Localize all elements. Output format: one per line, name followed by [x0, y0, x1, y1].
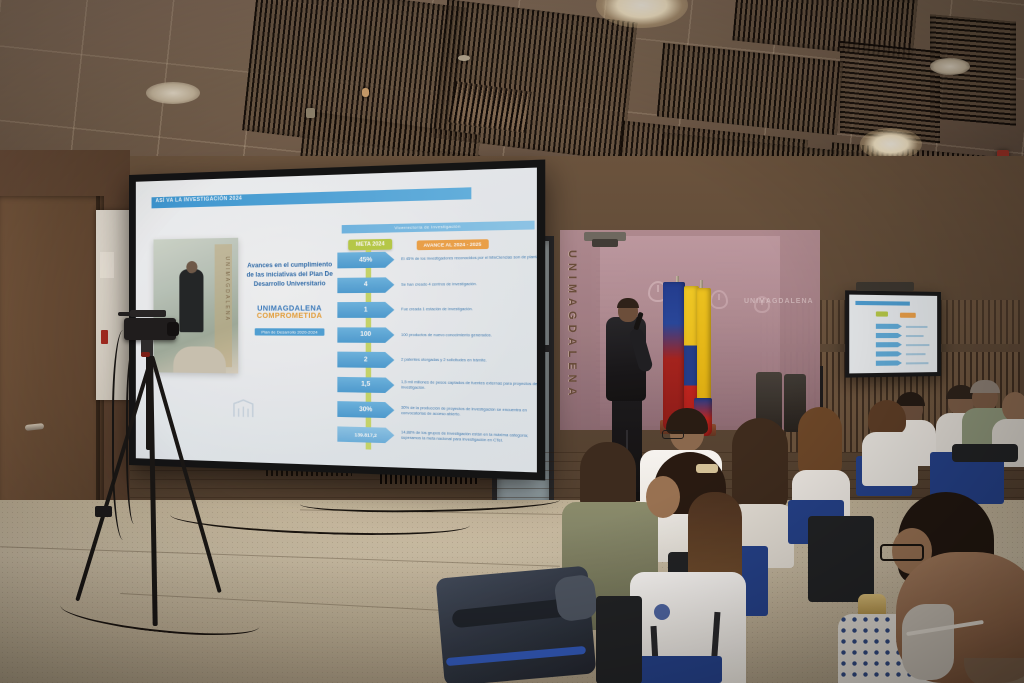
slide-brand-badge: Plan de Desarrollo 2020-2024 [255, 328, 324, 335]
hair [868, 400, 906, 434]
slide-brand-block: UNIMAGDALENA COMPROMETIDA Plan de Desarr… [244, 305, 335, 339]
camera-top-plate [130, 310, 166, 317]
slide-metric-row: 1Fue creada 1 estación de investigación. [337, 301, 537, 318]
display-chip-orange [900, 313, 916, 318]
slide-brand-line2: COMPROMETIDA [244, 313, 335, 320]
head [646, 476, 680, 518]
slide-col-header-year: META 2024 [348, 239, 392, 250]
ceiling-projector [592, 239, 618, 247]
display-bracket [856, 282, 914, 291]
camera-cable [126, 344, 146, 524]
wall-sign [100, 252, 114, 278]
display-chevron [876, 360, 902, 365]
display-chevron [876, 333, 902, 338]
inset-photo-foreground [173, 346, 226, 373]
slide-metric-description: 30% de la producción de proyectos de inv… [401, 405, 537, 419]
hair-clip [696, 464, 718, 473]
projection-screen-frame: ASÍ VA LA INVESTIGACIÓN 2024 Vicerrector… [129, 160, 545, 481]
sprinkler-head [362, 88, 369, 97]
auditorium-chair-back[interactable] [952, 444, 1018, 462]
slide-metric-value: 2 [337, 352, 394, 368]
inset-photo-banner-text: UNIMAGDALENA [224, 256, 230, 322]
slide-metric-description: 2 patentes otorgadas y 2 solicitudes en … [401, 357, 537, 364]
ceiling-downlight [930, 58, 970, 75]
display-chevron [876, 351, 902, 356]
slide-metric-row: 45%El 45% de los investigadores reconoci… [337, 249, 537, 268]
wall-brand-text: UNIMAGDALENA [744, 298, 814, 305]
auditorium-chair-back[interactable] [596, 596, 642, 683]
beard [964, 658, 1024, 683]
display-chevron [876, 342, 902, 347]
hair [902, 604, 954, 680]
ceiling-sensor [458, 55, 470, 61]
slide-metric-description: El 45% de los investigadores reconocidos… [401, 255, 537, 262]
eyeglasses [662, 430, 684, 439]
slide-metric-value: 100 [337, 327, 394, 343]
slide-metric-value: 1 [337, 302, 394, 318]
power-adapter-brick [95, 506, 112, 517]
slide-col-header-result: AVANCE AL 2024 - 2025 [417, 239, 489, 250]
camera-lens [167, 322, 179, 336]
slide-metric-row: 4Se han creado 4 centros de investigació… [337, 275, 537, 293]
display-chevron [876, 324, 902, 329]
slide-metric-description: 100 productos de nuevo conocimiento gene… [401, 332, 537, 338]
auditorium-chair-seat[interactable] [630, 656, 722, 683]
display-text-line [906, 353, 926, 355]
eyeglasses [880, 544, 924, 561]
slide-metric-description: 1,5 mil millones de pesos captados de fu… [401, 380, 537, 393]
slide-metric-description: Fue creada 1 estación de investigación. [401, 307, 537, 313]
auditorium-chair-back[interactable] [808, 516, 874, 602]
emergency-button[interactable] [101, 330, 108, 344]
ceiling-downlight [146, 82, 200, 104]
shirt-logo [654, 604, 670, 620]
wall-display-screen [849, 295, 937, 374]
display-text-line [906, 335, 924, 337]
slide-metric-value: 1,5 [337, 376, 394, 393]
ceiling-sensor [306, 108, 315, 118]
university-crest-watermark [710, 290, 728, 309]
head [1002, 392, 1024, 422]
display-text-line [906, 362, 929, 364]
hair [798, 407, 842, 479]
slide-metric-row: 22 patentes otorgadas y 2 solicitudes en… [337, 352, 537, 370]
slide-metric-value: 4 [337, 277, 394, 293]
slide-metric-value: 45% [337, 252, 394, 269]
slide-metric-description: 14,88% de los grupos de investigación es… [401, 430, 537, 445]
slide-metric-value: 139.817,2 [337, 426, 394, 443]
display-chip-green [876, 311, 888, 316]
projection-screen-surface: ASÍ VA LA INVESTIGACIÓN 2024 Vicerrector… [136, 168, 537, 473]
display-text-line [906, 344, 930, 346]
slide-left-title: Avances en el cumplimiento de las inicia… [244, 261, 335, 290]
inset-photo-speaker-head [186, 261, 197, 273]
slide-metric-row: 100100 productos de nuevo conocimiento g… [337, 327, 537, 344]
wall-display[interactable] [845, 290, 941, 377]
inset-photo-speaker-body [179, 269, 203, 332]
hair [732, 418, 788, 514]
slide-watermark-logo [232, 398, 255, 419]
slide-metric-value: 30% [337, 401, 394, 418]
equipment-bag-handle[interactable] [553, 573, 599, 622]
torso [862, 432, 918, 486]
display-slide-header [855, 301, 909, 306]
display-text-line [906, 326, 928, 328]
auditorium-photo: UNIMAGDALENA UNIMAGDALENA ASÍ VA LA INVE… [0, 0, 1024, 683]
slide-inset-photo: UNIMAGDALENA [154, 238, 239, 374]
slide-metric-description: Se han creado 4 centros de investigación… [401, 281, 537, 288]
